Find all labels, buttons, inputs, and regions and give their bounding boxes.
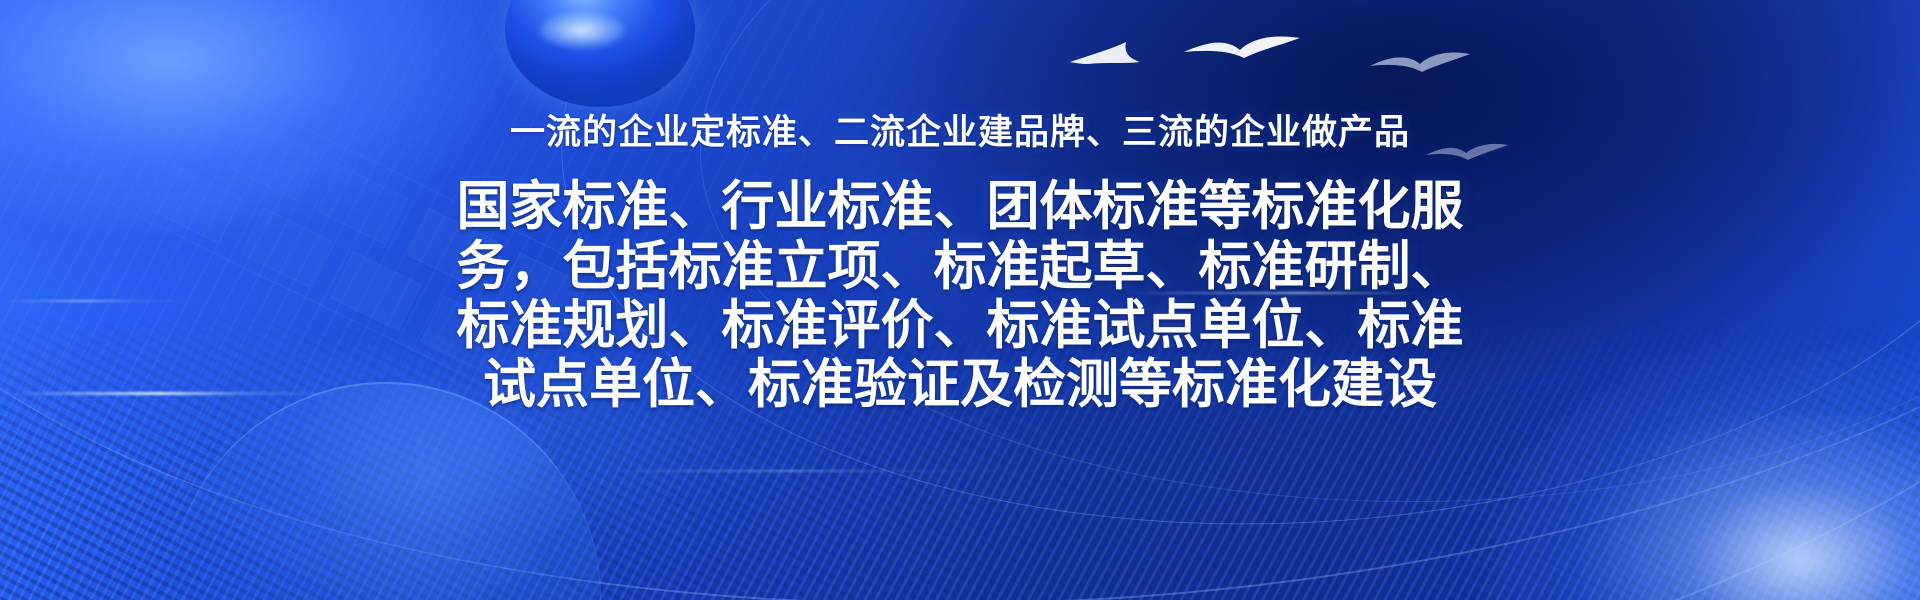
- banner-body-line: 标准规划、标准评价、标准试点单位、标准: [430, 296, 1490, 355]
- banner-body-line: 务，包括标准立项、标准起草、标准研制、: [430, 237, 1490, 296]
- banner-text-block: 一流的企业定标准、二流企业建品牌、三流的企业做产品 国家标准、行业标准、团体标准…: [0, 0, 1920, 600]
- banner-body-text: 国家标准、行业标准、团体标准等标准化服 务，包括标准立项、标准起草、标准研制、 …: [430, 177, 1490, 414]
- banner-body-line: 试点单位、标准验证及检测等标准化建设: [430, 355, 1490, 414]
- banner-body-line: 国家标准、行业标准、团体标准等标准化服: [430, 177, 1490, 236]
- banner-headline: 一流的企业定标准、二流企业建品牌、三流的企业做产品: [510, 112, 1410, 153]
- promo-banner: 一流的企业定标准、二流企业建品牌、三流的企业做产品 国家标准、行业标准、团体标准…: [0, 0, 1920, 600]
